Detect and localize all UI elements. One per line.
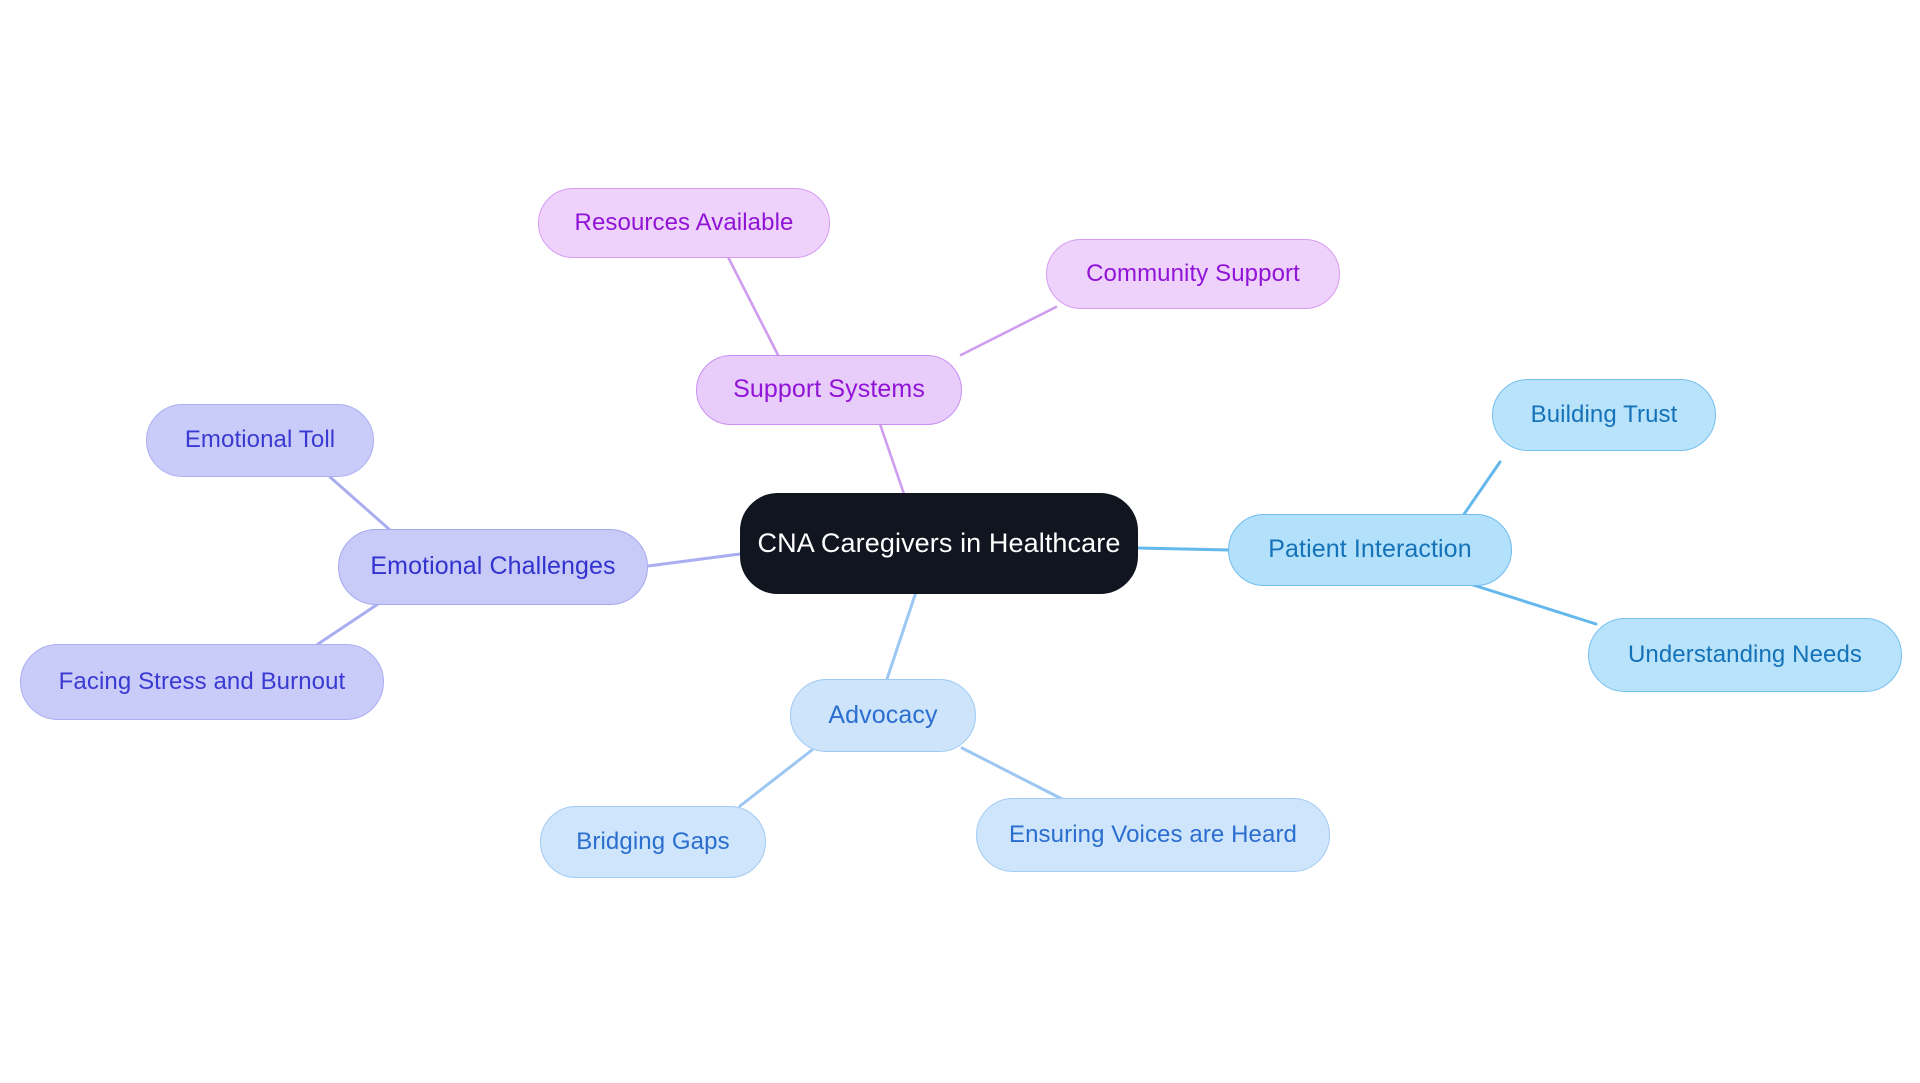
node-resources-available-label: Resources Available — [575, 210, 794, 236]
node-building-trust[interactable]: Building Trust — [1492, 379, 1716, 451]
node-patient-interaction-label: Patient Interaction — [1268, 536, 1471, 564]
node-advocacy-label: Advocacy — [828, 702, 937, 730]
node-emotional-toll-label: Emotional Toll — [185, 427, 335, 453]
node-community-support-label: Community Support — [1086, 261, 1300, 287]
edge-patient-interaction-to-building-trust — [1460, 462, 1500, 520]
edge-root-to-emotional-challenges — [648, 554, 740, 566]
edge-root-to-advocacy — [886, 592, 916, 682]
node-building-trust-label: Building Trust — [1531, 402, 1678, 428]
node-ensuring-voices-are-heard-label: Ensuring Voices are Heard — [1009, 822, 1297, 848]
edge-advocacy-to-bridging-gaps — [740, 750, 812, 806]
edge-root-to-support-systems — [880, 424, 905, 497]
node-facing-stress-and-burnout[interactable]: Facing Stress and Burnout — [20, 644, 384, 720]
node-support-systems[interactable]: Support Systems — [696, 355, 962, 425]
edge-patient-interaction-to-understanding-needs — [1470, 584, 1596, 624]
node-understanding-needs[interactable]: Understanding Needs — [1588, 618, 1902, 692]
node-resources-available[interactable]: Resources Available — [538, 188, 830, 258]
edge-advocacy-to-ensuring-voices-are-heard — [962, 748, 1064, 800]
node-facing-stress-and-burnout-label: Facing Stress and Burnout — [59, 669, 346, 695]
node-patient-interaction[interactable]: Patient Interaction — [1228, 514, 1512, 586]
node-emotional-toll[interactable]: Emotional Toll — [146, 404, 374, 477]
node-bridging-gaps-label: Bridging Gaps — [576, 829, 729, 855]
node-ensuring-voices-are-heard[interactable]: Ensuring Voices are Heard — [976, 798, 1330, 872]
node-emotional-challenges[interactable]: Emotional Challenges — [338, 529, 648, 605]
edge-support-systems-to-resources-available — [728, 257, 778, 355]
node-advocacy[interactable]: Advocacy — [790, 679, 976, 752]
edge-emotional-challenges-to-emotional-toll — [330, 477, 390, 530]
node-root[interactable]: CNA Caregivers in Healthcare — [740, 493, 1138, 594]
node-bridging-gaps[interactable]: Bridging Gaps — [540, 806, 766, 878]
edge-emotional-challenges-to-facing-stress-and-burnout — [318, 604, 378, 644]
node-root-label: CNA Caregivers in Healthcare — [758, 529, 1121, 559]
node-support-systems-label: Support Systems — [733, 376, 925, 404]
edge-root-to-patient-interaction — [1138, 548, 1230, 550]
mindmap-canvas: CNA Caregivers in Healthcare Support Sys… — [0, 0, 1920, 1083]
node-understanding-needs-label: Understanding Needs — [1628, 642, 1862, 668]
node-community-support[interactable]: Community Support — [1046, 239, 1340, 309]
edge-support-systems-to-community-support — [961, 307, 1056, 355]
node-emotional-challenges-label: Emotional Challenges — [370, 553, 615, 581]
